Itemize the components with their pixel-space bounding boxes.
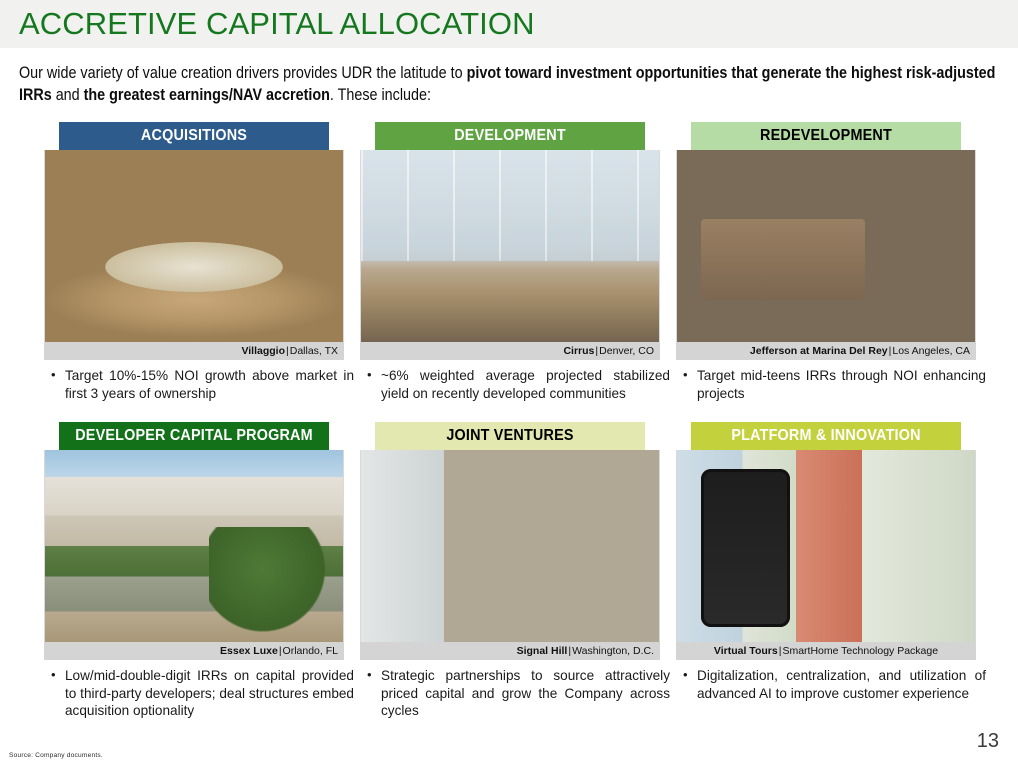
bullet-item: Digitalization, centralization, and util…	[676, 667, 986, 702]
card-joint-ventures: JOINT VENTURES Signal Hill|Washington, D…	[360, 422, 660, 722]
card-platform-innovation: PLATFORM & INNOVATION ACCOUNT SNAPSHOT V…	[676, 422, 976, 704]
photo-jefferson-at-marina-del-rey	[676, 150, 976, 342]
photo-villaggio	[44, 150, 344, 342]
caption-virtual-tours: Virtual Tours|SmartHome Technology Packa…	[676, 642, 976, 660]
card-redevelopment: REDEVELOPMENT Jefferson at Marina Del Re…	[676, 122, 976, 404]
caption-name: Virtual Tours	[714, 645, 778, 657]
source-note: Source: Company documents.	[9, 752, 103, 759]
caption-cirrus: Cirrus|Denver, CO	[360, 342, 660, 360]
caption-jefferson: Jefferson at Marina Del Rey|Los Angeles,…	[676, 342, 976, 360]
bullet-item: ~6% weighted average projected stabilize…	[360, 367, 670, 402]
bullet-item: Strategic partnerships to source attract…	[360, 667, 670, 720]
caption-signal-hill: Signal Hill|Washington, D.C.	[360, 642, 660, 660]
card-acquisitions: ACQUISITIONS Villaggio|Dallas, TX Target…	[44, 122, 344, 404]
card-header-developer-capital-program: DEVELOPER CAPITAL PROGRAM	[59, 422, 329, 450]
photo-platform-innovation: ACCOUNT SNAPSHOT	[676, 450, 976, 642]
card-header-development: DEVELOPMENT	[375, 122, 645, 150]
caption-name: Cirrus	[563, 345, 594, 357]
bullets-acquisitions: Target 10%-15% NOI growth above market i…	[44, 367, 354, 402]
photo-signal-hill	[360, 450, 660, 642]
page-number: 13	[977, 730, 999, 753]
caption-name: Villaggio	[241, 345, 285, 357]
bullets-redevelopment: Target mid-teens IRRs through NOI enhanc…	[676, 367, 986, 402]
photo-essex-luxe	[44, 450, 344, 642]
subtitle-text-1: Our wide variety of value creation drive…	[19, 64, 467, 82]
phone-mockup-screen: ACCOUNT SNAPSHOT	[708, 475, 783, 621]
subtitle-text-2: . These include:	[330, 86, 431, 104]
caption-location: Orlando, FL	[283, 645, 338, 657]
bullets-developer-capital-program: Low/mid-double-digit IRRs on capital pro…	[44, 667, 354, 720]
caption-name: Signal Hill	[517, 645, 568, 657]
card-development: DEVELOPMENT Cirrus|Denver, CO ~6% weight…	[360, 122, 660, 404]
photo-cirrus	[360, 150, 660, 342]
bullet-item: Target mid-teens IRRs through NOI enhanc…	[676, 367, 986, 402]
caption-name: Jefferson at Marina Del Rey	[750, 345, 888, 357]
page-title: ACCRETIVE CAPITAL ALLOCATION	[19, 6, 535, 42]
phone-account-snapshot-line1: ACCOUNT	[708, 475, 783, 487]
caption-villaggio: Villaggio|Dallas, TX	[44, 342, 344, 360]
caption-essex-luxe: Essex Luxe|Orlando, FL	[44, 642, 344, 660]
caption-location: Dallas, TX	[290, 345, 338, 357]
bullets-development: ~6% weighted average projected stabilize…	[360, 367, 670, 402]
caption-location: Denver, CO	[599, 345, 654, 357]
bullet-item: Target 10%-15% NOI growth above market i…	[44, 367, 354, 402]
bullets-platform-innovation: Digitalization, centralization, and util…	[676, 667, 986, 702]
caption-location: SmartHome Technology Package	[782, 645, 938, 657]
caption-location: Washington, D.C.	[572, 645, 654, 657]
subtitle-text-mid: and	[52, 86, 84, 104]
card-developer-capital-program: DEVELOPER CAPITAL PROGRAM Essex Luxe|Orl…	[44, 422, 344, 722]
caption-name: Essex Luxe	[220, 645, 278, 657]
bullets-joint-ventures: Strategic partnerships to source attract…	[360, 667, 670, 720]
card-header-acquisitions: ACQUISITIONS	[59, 122, 329, 150]
caption-location: Los Angeles, CA	[892, 345, 970, 357]
phone-account-snapshot-line2: SNAPSHOT	[708, 487, 783, 499]
card-header-joint-ventures: JOINT VENTURES	[375, 422, 645, 450]
bullet-item: Low/mid-double-digit IRRs on capital pro…	[44, 667, 354, 720]
subtitle-bold-2: the greatest earnings/NAV accretion	[84, 86, 330, 104]
card-header-platform-innovation: PLATFORM & INNOVATION	[691, 422, 961, 450]
subtitle-paragraph: Our wide variety of value creation drive…	[19, 62, 1009, 106]
card-header-redevelopment: REDEVELOPMENT	[691, 122, 961, 150]
